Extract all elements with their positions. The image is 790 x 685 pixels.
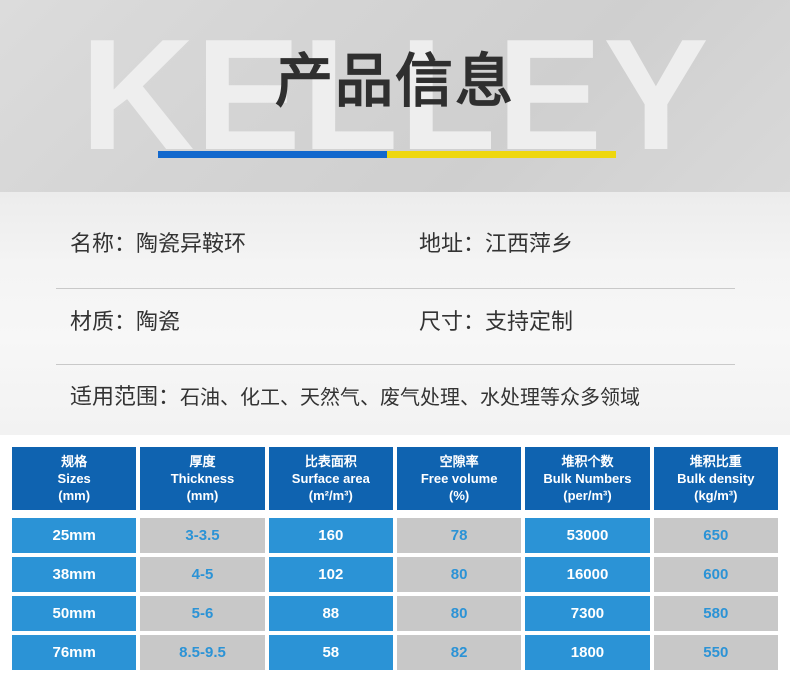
table-cell: 53000 [525, 518, 649, 553]
attribute-scope-value: 石油、化工、天然气、废气处理、水处理等众多领域 [180, 387, 640, 409]
table-cell: 8.5-9.5 [140, 635, 264, 670]
table-cell: 160 [269, 518, 393, 553]
table-cell: 7300 [525, 596, 649, 631]
table-cell: 580 [654, 596, 778, 631]
attribute-material: 材质：陶瓷 [70, 302, 180, 342]
table-cell: 650 [654, 518, 778, 553]
table-header-unit: (m²/m³) [309, 487, 353, 504]
table-cell: 76mm [12, 635, 136, 670]
table-header-cell: 堆积比重Bulk density(kg/m³) [654, 447, 778, 510]
page-title: 产品信息 [0, 47, 790, 117]
attribute-divider-1 [56, 288, 735, 289]
attribute-row-3: 适用范围：石油、化工、天然气、废气处理、水处理等众多领域 [0, 377, 790, 437]
table-row: 76mm8.5-9.558821800550 [12, 635, 778, 670]
table-header-en: Bulk density [677, 470, 754, 487]
table-header-cn: 堆积比重 [690, 453, 742, 470]
table-cell: 5-6 [140, 596, 264, 631]
table-row: 25mm3-3.51607853000650 [12, 518, 778, 553]
table-header-cell: 规格Sizes(mm) [12, 447, 136, 510]
table-cell: 1800 [525, 635, 649, 670]
table-cell: 58 [269, 635, 393, 670]
table-cell: 82 [397, 635, 521, 670]
table-cell: 550 [654, 635, 778, 670]
table-cell: 38mm [12, 557, 136, 592]
product-attributes-panel: 名称：陶瓷异鞍环 地址：江西萍乡 材质：陶瓷 尺寸：支持定制 适用范围：石油、化… [0, 192, 790, 435]
table-header-cn: 空隙率 [440, 453, 479, 470]
table-header-unit: (per/m³) [563, 487, 611, 504]
table-cell: 4-5 [140, 557, 264, 592]
table-cell: 80 [397, 557, 521, 592]
table-cell: 3-3.5 [140, 518, 264, 553]
table-header-cn: 厚度 [189, 453, 215, 470]
table-header-unit: (%) [449, 487, 469, 504]
attribute-row-1: 名称：陶瓷异鞍环 地址：江西萍乡 [0, 224, 790, 284]
table-header-cn: 规格 [61, 453, 87, 470]
title-underline-blue [158, 151, 387, 158]
product-info-page: KELLEY 产品信息 名称：陶瓷异鞍环 地址：江西萍乡 材质：陶瓷 尺寸：支持… [0, 0, 790, 685]
table-row: 38mm4-51028016000600 [12, 557, 778, 592]
table-header-en: Surface area [292, 470, 370, 487]
attribute-address: 地址：江西萍乡 [419, 224, 573, 264]
table-header-en: Free volume [421, 470, 498, 487]
table-cell: 80 [397, 596, 521, 631]
specification-table: 规格Sizes(mm)厚度Thickness(mm)比表面积Surface ar… [12, 447, 778, 670]
table-header-cn: 比表面积 [305, 453, 357, 470]
table-header-unit: (mm) [58, 487, 90, 504]
table-header-cell: 厚度Thickness(mm) [140, 447, 264, 510]
table-header-cell: 比表面积Surface area(m²/m³) [269, 447, 393, 510]
table-header-en: Sizes [58, 470, 91, 487]
table-cell: 102 [269, 557, 393, 592]
attribute-scope: 适用范围：石油、化工、天然气、废气处理、水处理等众多领域 [70, 377, 640, 418]
table-body: 25mm3-3.5160785300065038mm4-510280160006… [12, 518, 778, 670]
attribute-size: 尺寸：支持定制 [419, 302, 573, 342]
attribute-divider-2 [56, 364, 735, 365]
table-cell: 16000 [525, 557, 649, 592]
attribute-name: 名称：陶瓷异鞍环 [70, 224, 246, 264]
table-header-cell: 堆积个数Bulk Numbers(per/m³) [525, 447, 649, 510]
table-header-cell: 空隙率Free volume(%) [397, 447, 521, 510]
title-underline-yellow [387, 151, 616, 158]
table-cell: 25mm [12, 518, 136, 553]
table-header-en: Thickness [171, 470, 235, 487]
table-header-unit: (mm) [187, 487, 219, 504]
header-banner: KELLEY 产品信息 [0, 0, 790, 192]
table-cell: 88 [269, 596, 393, 631]
attribute-scope-label: 适用范围： [70, 384, 180, 409]
attribute-row-2: 材质：陶瓷 尺寸：支持定制 [0, 302, 790, 362]
table-row: 50mm5-688807300580 [12, 596, 778, 631]
table-header-row: 规格Sizes(mm)厚度Thickness(mm)比表面积Surface ar… [12, 447, 778, 510]
table-cell: 78 [397, 518, 521, 553]
table-header-unit: (kg/m³) [694, 487, 737, 504]
table-header-cn: 堆积个数 [561, 453, 613, 470]
table-cell: 50mm [12, 596, 136, 631]
table-cell: 600 [654, 557, 778, 592]
table-header-en: Bulk Numbers [543, 470, 631, 487]
